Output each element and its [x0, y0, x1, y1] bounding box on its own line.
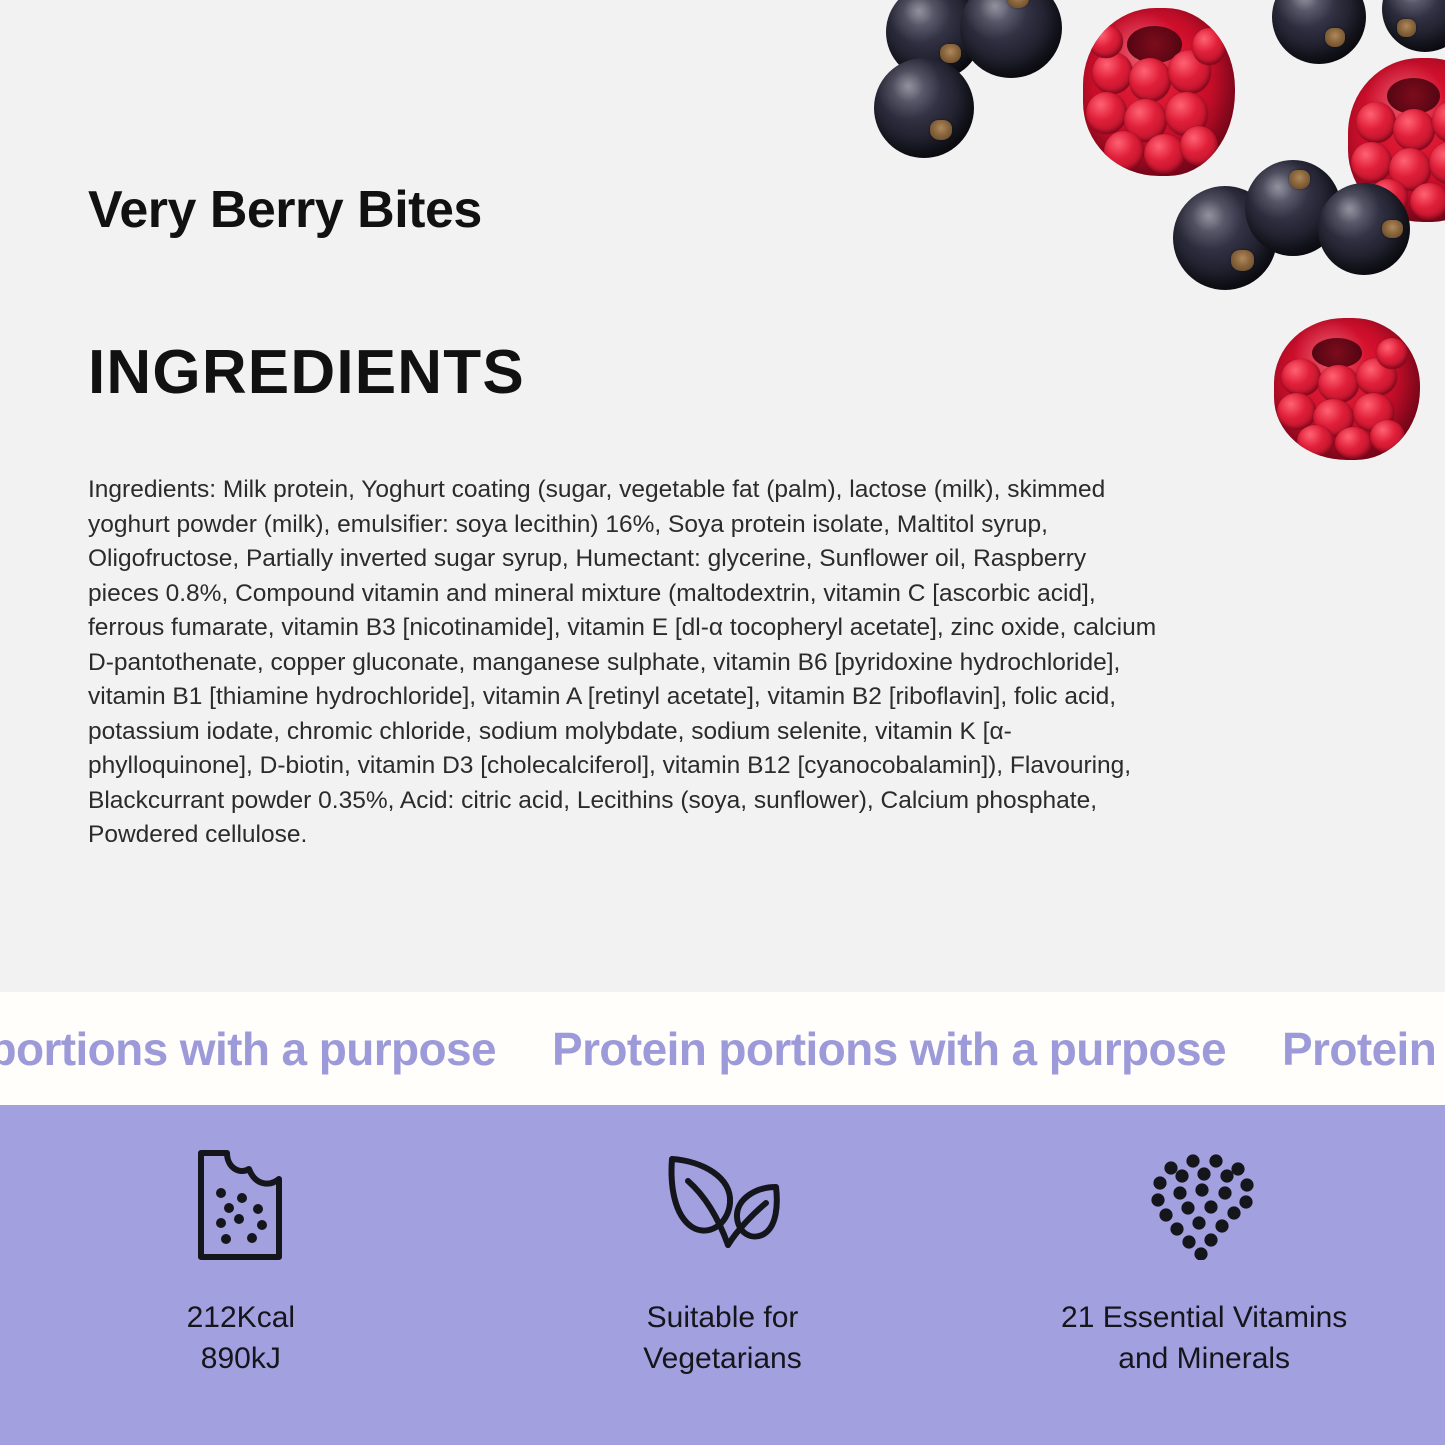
raspberry-icon — [1348, 58, 1445, 222]
blackcurrant-icon — [1382, 0, 1445, 52]
feature-calories: 212Kcal 890kJ — [0, 1105, 482, 1445]
feature-label-line1: 212Kcal — [187, 1301, 295, 1334]
marquee-text: Protein portions with a purpose — [1282, 1022, 1445, 1076]
blackcurrant-icon — [1245, 160, 1341, 256]
two-leaves-icon — [658, 1147, 788, 1263]
page-title: Very Berry Bites — [88, 180, 482, 240]
feature-vegetarian: Suitable for Vegetarians — [482, 1105, 964, 1445]
ingredients-text: Ingredients: Milk protein, Yoghurt coati… — [88, 473, 1163, 853]
product-label-page: Very Berry Bites INGREDIENTS Ingredients… — [0, 0, 1445, 1445]
blackcurrant-icon — [960, 0, 1062, 78]
blackcurrant-icon — [886, 0, 982, 80]
marquee-track: Protein portions with a purpose Protein … — [0, 1022, 1445, 1076]
feature-highlights-panel: 212Kcal 890kJ Suitable for Vegetarians — [0, 1105, 1445, 1445]
raspberry-icon — [1274, 318, 1420, 460]
feature-vitamins: 21 Essential Vitamins and Minerals — [963, 1105, 1445, 1445]
marquee-text: Protein portions with a purpose — [552, 1022, 1282, 1076]
feature-label-line1: 21 Essential Vitamins — [1061, 1301, 1347, 1334]
blackcurrant-icon — [874, 58, 974, 158]
raspberry-icon — [1083, 8, 1235, 176]
feature-label-line2: Vegetarians — [643, 1342, 801, 1375]
marquee-banner: Protein portions with a purpose Protein … — [0, 992, 1445, 1105]
ingredients-panel: Very Berry Bites INGREDIENTS Ingredients… — [0, 0, 1445, 992]
feature-label-line2: and Minerals — [1118, 1342, 1290, 1375]
section-heading-ingredients: INGREDIENTS — [88, 337, 525, 408]
feature-label-calories: 212Kcal 890kJ — [187, 1297, 295, 1379]
feature-label-line2: 890kJ — [201, 1342, 281, 1375]
dotted-heart-berry-icon — [1141, 1147, 1267, 1263]
feature-label-line1: Suitable for — [647, 1301, 799, 1334]
blackcurrant-icon — [1318, 183, 1410, 275]
marquee-text: Protein portions with a purpose — [0, 1022, 552, 1076]
feature-label-vegetarian: Suitable for Vegetarians — [643, 1297, 801, 1379]
blackcurrant-icon — [1272, 0, 1366, 64]
blackcurrant-icon — [1173, 186, 1277, 290]
bitten-protein-bar-icon — [195, 1147, 287, 1263]
feature-label-vitamins: 21 Essential Vitamins and Minerals — [1061, 1297, 1347, 1379]
